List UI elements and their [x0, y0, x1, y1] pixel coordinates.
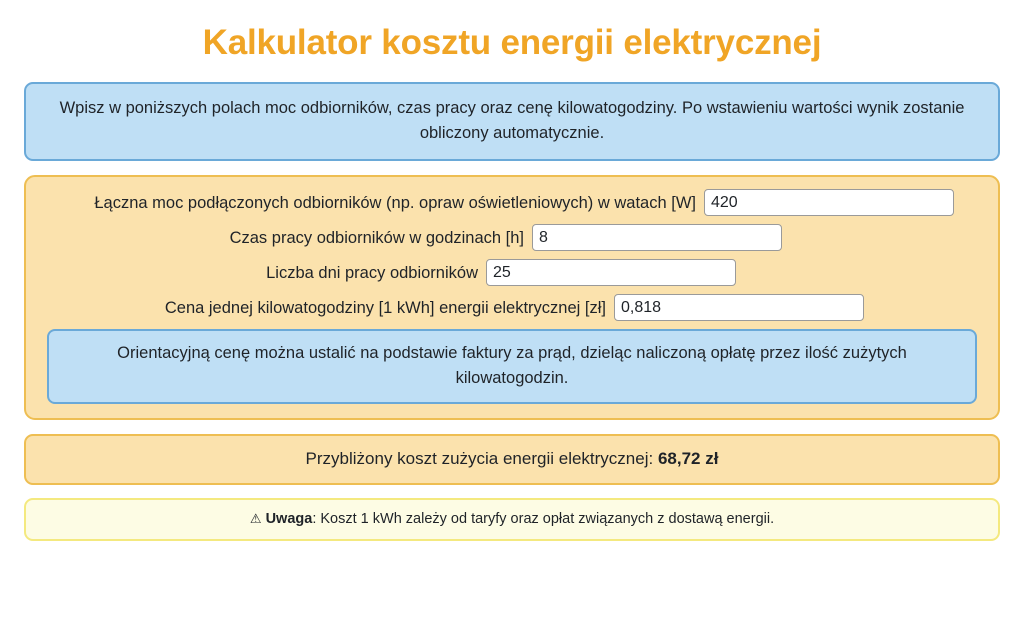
warning-bar: ⚠ Uwaga: Koszt 1 kWh zależy od taryfy or…: [24, 498, 1000, 541]
field-row-hours: Czas pracy odbiorników w godzinach [h]: [40, 224, 984, 251]
result-value: 68,72 zł: [658, 449, 719, 468]
energy-cost-calculator-page: Kalkulator kosztu energii elektrycznej W…: [0, 0, 1024, 617]
warning-text: Koszt 1 kWh zależy od taryfy oraz opłat …: [320, 511, 774, 527]
calculator-form-panel: Łączna moc podłączonych odbiorników (np.…: [24, 175, 1000, 420]
field-row-kwh-price: Cena jednej kilowatogodziny [1 kWh] ener…: [40, 294, 984, 321]
input-kwh-price[interactable]: [614, 294, 864, 321]
intro-instructions-box: Wpisz w poniższych polach moc odbiornikó…: [24, 82, 1000, 161]
page-title: Kalkulator kosztu energii elektrycznej: [24, 0, 1000, 82]
label-kwh-price: Cena jednej kilowatogodziny [1 kWh] ener…: [165, 297, 614, 319]
input-total-power[interactable]: [704, 189, 954, 216]
warning-label: Uwaga: [266, 511, 313, 527]
result-label: Przybliżony koszt zużycia energii elektr…: [306, 449, 654, 468]
warning-separator: :: [312, 511, 316, 527]
input-working-days[interactable]: [486, 259, 736, 286]
field-row-days: Liczba dni pracy odbiorników: [40, 259, 984, 286]
price-hint-box: Orientacyjną cenę można ustalić na podst…: [47, 329, 977, 404]
label-working-days: Liczba dni pracy odbiorników: [266, 262, 486, 284]
input-working-hours[interactable]: [532, 224, 782, 251]
label-working-hours: Czas pracy odbiorników w godzinach [h]: [230, 227, 532, 249]
intro-instructions-text: Wpisz w poniższych polach moc odbiornikó…: [60, 99, 965, 142]
warning-triangle-icon: ⚠: [250, 511, 262, 526]
price-hint-text: Orientacyjną cenę można ustalić na podst…: [117, 344, 907, 387]
label-total-power: Łączna moc podłączonych odbiorników (np.…: [94, 192, 704, 214]
result-bar: Przybliżony koszt zużycia energii elektr…: [24, 434, 1000, 485]
field-row-power: Łączna moc podłączonych odbiorników (np.…: [40, 189, 984, 216]
